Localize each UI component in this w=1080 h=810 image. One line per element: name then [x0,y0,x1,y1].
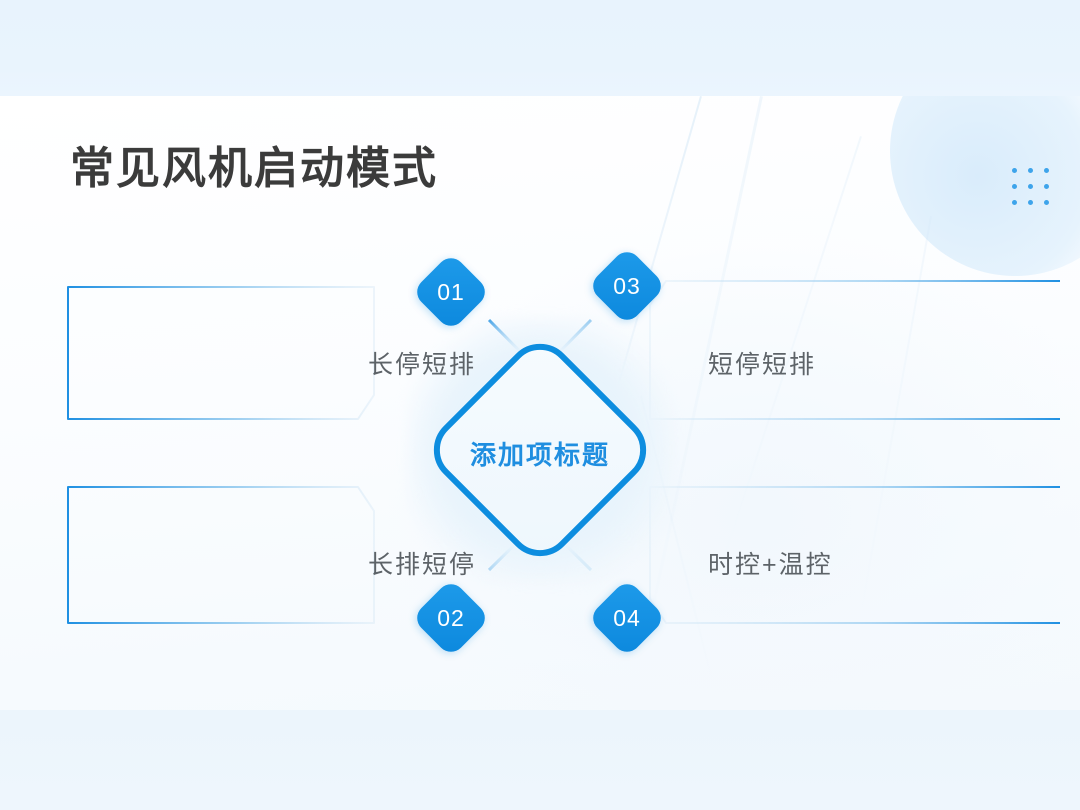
frame-item-01 [68,287,374,419]
center-title: 添加项标题 [390,435,690,472]
caption-item-03: 短停短排 [708,345,816,381]
badge-label-02: 02 [423,590,479,646]
caption-item-04: 时控+温控 [708,545,833,581]
badge-label-03: 03 [599,258,655,314]
slide-canvas: 常见风机启动模式 [0,0,1080,810]
badge-label-04: 04 [599,590,655,646]
caption-item-02: 长排短停 [368,545,476,581]
badge-item-01[interactable]: 01 [411,252,490,331]
badge-item-03[interactable]: 03 [587,246,666,325]
badge-label-01: 01 [423,264,479,320]
frame-item-02 [68,487,374,623]
badge-item-02[interactable]: 02 [411,578,490,657]
badge-item-04[interactable]: 04 [587,578,666,657]
caption-item-01: 长停短排 [368,345,476,381]
